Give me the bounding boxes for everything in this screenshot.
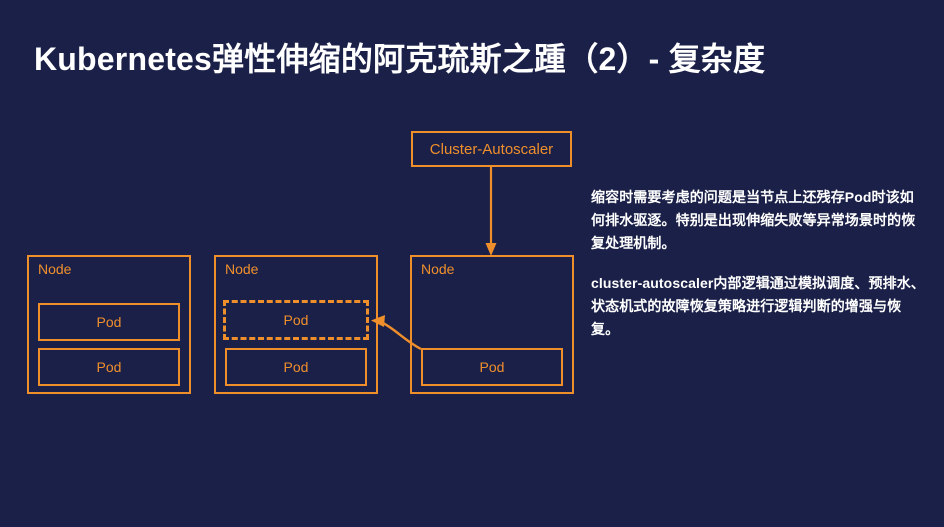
pod-box-2-1: Pod	[223, 300, 369, 340]
note-paragraph-2: cluster-autoscaler内部逻辑通过模拟调度、预排水、状态机式的故障…	[591, 272, 927, 341]
pod-label-2-2: Pod	[284, 360, 309, 374]
pod-box-3-1: Pod	[421, 348, 563, 386]
node-label-3: Node	[421, 262, 454, 277]
pod-box-1-2: Pod	[38, 348, 180, 386]
pod-label-1-2: Pod	[97, 360, 122, 374]
node-label-1: Node	[38, 262, 71, 277]
note-paragraph-1: 缩容时需要考虑的问题是当节点上还残存Pod时该如何排水驱逐。特别是出现伸缩失败等…	[591, 186, 927, 255]
cluster-autoscaler-label: Cluster-Autoscaler	[430, 141, 553, 158]
pod-label-3-1: Pod	[480, 360, 505, 374]
page-title: Kubernetes弹性伸缩的阿克琉斯之踵（2）- 复杂度	[34, 34, 765, 80]
pod-box-2-2: Pod	[225, 348, 367, 386]
pod-label-1-1: Pod	[97, 315, 122, 329]
cluster-autoscaler-box: Cluster-Autoscaler	[411, 131, 572, 167]
arrow-autoscaler-to-node3	[486, 167, 497, 256]
node-label-2: Node	[225, 262, 258, 277]
slide-canvas: Kubernetes弹性伸缩的阿克琉斯之踵（2）- 复杂度 Cluster-Au…	[0, 0, 944, 527]
pod-box-1-1: Pod	[38, 303, 180, 341]
pod-label-2-1: Pod	[284, 313, 309, 327]
